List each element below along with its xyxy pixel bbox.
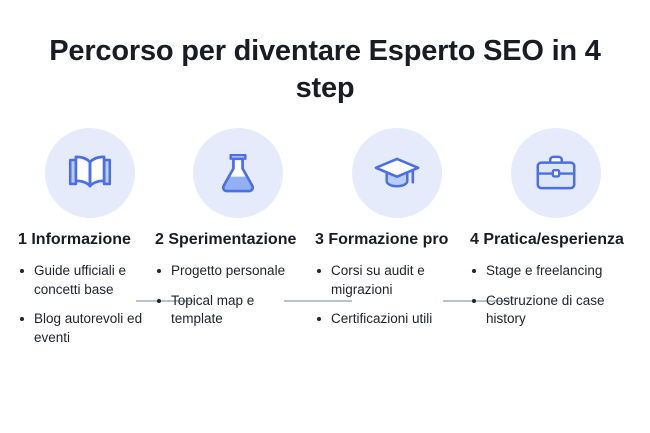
step-heading-1: 1 Informazione — [18, 230, 147, 249]
bullet-dot-icon — [472, 299, 476, 303]
infographic-root: Percorso per diventare Esperto SEO in 4 … — [0, 0, 650, 433]
list-item: Blog autorevoli ed eventi — [18, 310, 147, 347]
bullet-text: Blog autorevoli ed eventi — [34, 311, 142, 345]
step-icon-circle-4 — [511, 128, 601, 218]
list-item: Progetto personale — [155, 262, 307, 281]
step-column-2: 2 Sperimentazione Progetto personale Top… — [155, 230, 315, 347]
bullet-dot-icon — [317, 317, 321, 321]
step-heading-3: 3 Formazione pro — [315, 230, 462, 249]
graduation-cap-icon — [371, 147, 423, 199]
step-bullets-3: Corsi su audit e migrazioni Certificazio… — [315, 262, 462, 329]
bullet-text: Progetto personale — [171, 263, 285, 278]
bullet-text: Guide ufficiali e concetti base — [34, 263, 126, 297]
page-title: Percorso per diventare Esperto SEO in 4 … — [40, 33, 610, 107]
bullet-text: Stage e freelancing — [486, 263, 602, 278]
list-item: Costruzione di case history — [470, 292, 642, 329]
step-icon-circle-1 — [45, 128, 135, 218]
step-column-3: 3 Formazione pro Corsi su audit e migraz… — [315, 230, 470, 347]
step-icon-row — [0, 128, 650, 220]
step-bullets-4: Stage e freelancing Costruzione di case … — [470, 262, 642, 329]
bullet-dot-icon — [20, 269, 24, 273]
list-item: Certificazioni utili — [315, 310, 462, 329]
bullet-dot-icon — [157, 269, 161, 273]
list-item: Topical map e template — [155, 292, 307, 329]
bullet-dot-icon — [472, 269, 476, 273]
step-bullets-2: Progetto personale Topical map e templat… — [155, 262, 307, 329]
bullet-dot-icon — [317, 269, 321, 273]
list-item: Guide ufficiali e concetti base — [18, 262, 147, 299]
step-icon-circle-3 — [352, 128, 442, 218]
bullet-text: Certificazioni utili — [331, 311, 432, 326]
briefcase-icon — [531, 148, 581, 198]
bullet-dot-icon — [157, 299, 161, 303]
flask-icon — [213, 148, 263, 198]
step-column-1: 1 Informazione Guide ufficiali e concett… — [0, 230, 155, 347]
step-heading-2: 2 Sperimentazione — [155, 230, 307, 249]
step-column-4: 4 Pratica/esperienza Stage e freelancing… — [470, 230, 650, 347]
bullet-text: Corsi su audit e migrazioni — [331, 263, 425, 297]
step-bullets-1: Guide ufficiali e concetti base Blog aut… — [18, 262, 147, 347]
bullet-text: Costruzione di case history — [486, 293, 605, 327]
bullet-dot-icon — [20, 317, 24, 321]
steps-columns: 1 Informazione Guide ufficiali e concett… — [0, 230, 650, 347]
list-item: Stage e freelancing — [470, 262, 642, 281]
bullet-text: Topical map e template — [171, 293, 254, 327]
list-item: Corsi su audit e migrazioni — [315, 262, 462, 299]
step-heading-4: 4 Pratica/esperienza — [470, 230, 642, 249]
step-icon-circle-2 — [193, 128, 283, 218]
open-book-icon — [65, 148, 115, 198]
